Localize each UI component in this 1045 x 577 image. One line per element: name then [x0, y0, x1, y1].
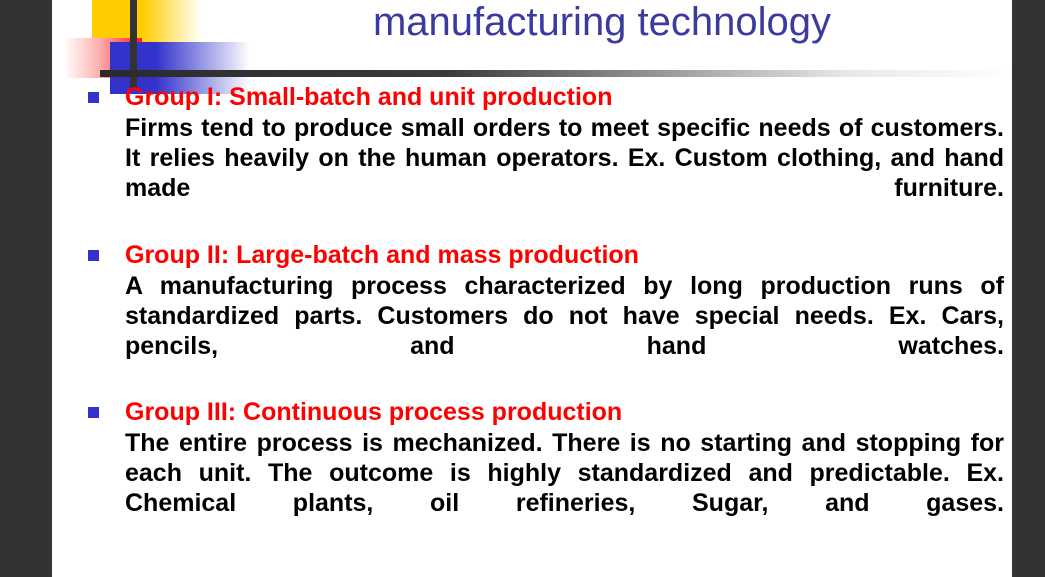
slide-body-content: Group I: Small-batch and unit production…: [52, 82, 1012, 548]
decoration-red-square: [64, 38, 142, 78]
group-description: Firms tend to produce small orders to me…: [52, 113, 1012, 233]
decoration-vertical-rule: [130, 0, 137, 90]
group-description: The entire process is mechanized. There …: [52, 428, 1012, 548]
group-heading: Group II: Large-batch and mass productio…: [125, 241, 639, 269]
group-heading-row: Group II: Large-batch and mass productio…: [52, 240, 1012, 271]
presentation-stage: manufacturing technology Group I: Small-…: [0, 0, 1045, 577]
group-heading-row: Group I: Small-batch and unit production: [52, 82, 1012, 113]
group-item: Group III: Continuous process production…: [52, 397, 1012, 548]
square-bullet-icon: [88, 250, 99, 261]
slide-title: manufacturing technology: [252, 0, 952, 46]
group-description: A manufacturing process characterized by…: [52, 271, 1012, 391]
decoration-yellow-square: [92, 0, 202, 47]
square-bullet-icon: [88, 407, 99, 418]
group-item: Group II: Large-batch and mass productio…: [52, 240, 1012, 391]
group-heading-row: Group III: Continuous process production: [52, 397, 1012, 428]
group-heading: Group III: Continuous process production: [125, 398, 622, 426]
group-heading: Group I: Small-batch and unit production: [125, 83, 612, 111]
group-item: Group I: Small-batch and unit production…: [52, 82, 1012, 233]
slide-canvas: manufacturing technology Group I: Small-…: [52, 0, 1012, 577]
square-bullet-icon: [88, 92, 99, 103]
decoration-horizontal-rule: [100, 70, 1012, 77]
